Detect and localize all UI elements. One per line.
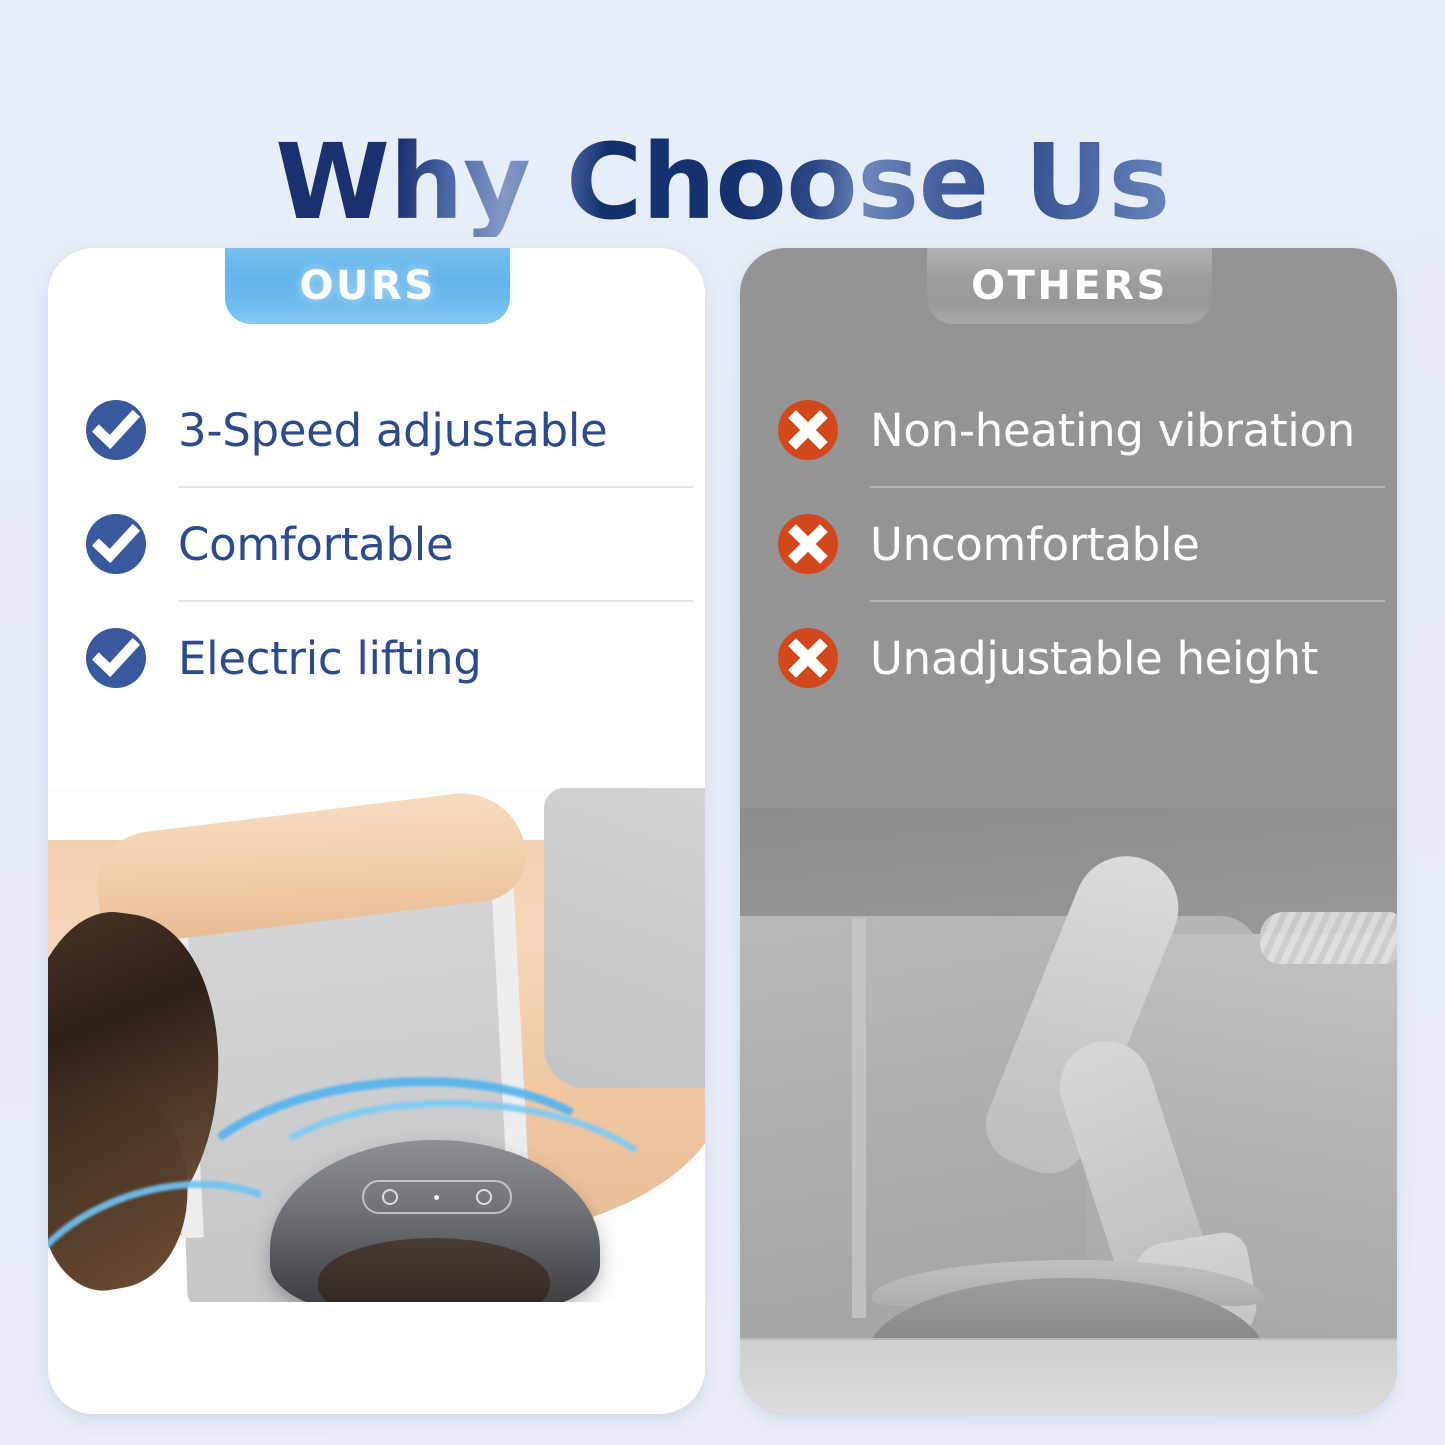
feature-label: Electric lifting	[178, 632, 482, 685]
ours-panel: OURS 3-Speed adjustable	[48, 248, 705, 1414]
feature-label: Comfortable	[178, 518, 453, 571]
others-tab-body: OTHERS	[927, 248, 1212, 324]
cross-circle-icon	[778, 400, 838, 460]
ours-tab-label: OURS	[299, 263, 435, 309]
feature-label: Unadjustable height	[870, 632, 1318, 685]
device-control-panel	[362, 1180, 512, 1214]
ours-tab-body: OURS	[225, 248, 510, 324]
photo-shirt-seam	[852, 918, 866, 1318]
others-tab-label: OTHERS	[971, 263, 1168, 309]
others-product-photo	[740, 808, 1397, 1414]
cross-circle-icon	[778, 514, 838, 574]
ours-product-photo	[48, 788, 705, 1414]
check-circle-icon	[86, 628, 146, 688]
ours-tab-notch-right	[510, 248, 556, 300]
others-feature-list: Non-heating vibration Uncomfortable	[740, 374, 1397, 714]
others-panel: OTHERS Non-heating vibration	[740, 248, 1397, 1414]
others-tab-notch-right	[1212, 248, 1258, 300]
ours-tab: OURS	[225, 248, 510, 324]
list-item: Non-heating vibration	[740, 374, 1397, 486]
photo-shirt-side	[544, 788, 705, 1088]
list-divider	[870, 600, 1385, 602]
ours-tab-notch-left	[179, 248, 225, 300]
list-item: Uncomfortable	[740, 488, 1397, 600]
others-photo-scene	[740, 808, 1397, 1414]
others-tab-notch-left	[881, 248, 927, 300]
check-circle-icon	[86, 400, 146, 460]
list-item: Comfortable	[48, 488, 705, 600]
feature-label: 3-Speed adjustable	[178, 404, 607, 457]
device-power-icon	[382, 1189, 398, 1205]
cross-circle-icon	[778, 628, 838, 688]
feature-label: Non-heating vibration	[870, 404, 1355, 457]
device-heat-icon	[476, 1189, 492, 1205]
page-title: Why Choose Us	[275, 128, 1170, 237]
ours-feature-list: 3-Speed adjustable Comfortable	[48, 374, 705, 714]
photo-floor	[740, 1340, 1397, 1414]
list-divider	[870, 486, 1385, 488]
device-indicator-dot	[434, 1195, 439, 1200]
list-item: 3-Speed adjustable	[48, 374, 705, 486]
comparison-infographic: Why Choose Us OURS 3-Speed	[0, 0, 1445, 1445]
photo-lace-trim	[1260, 912, 1397, 964]
ours-photo-scene	[48, 788, 705, 1414]
list-item: Electric lifting	[48, 602, 705, 714]
list-item: Unadjustable height	[740, 602, 1397, 714]
comparison-panels: OURS 3-Speed adjustable	[48, 248, 1397, 1414]
check-circle-icon	[86, 514, 146, 574]
photo-floor	[48, 1302, 705, 1414]
feature-label: Uncomfortable	[870, 518, 1200, 571]
others-tab: OTHERS	[927, 248, 1212, 324]
